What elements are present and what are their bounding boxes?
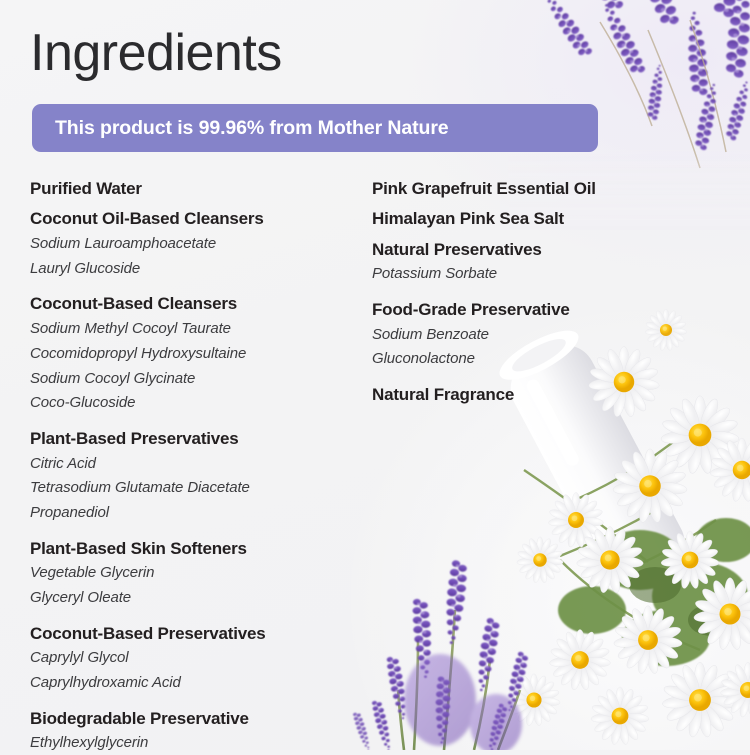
ingredient-item: Vegetable Glycerin [30, 562, 350, 585]
ingredient-group: Coconut Oil-Based CleansersSodium Lauroa… [30, 208, 350, 280]
ingredient-group: Food-Grade PreservativeSodium BenzoateGl… [372, 299, 702, 371]
ingredient-item: Citric Acid [30, 453, 350, 476]
ingredient-item: Caprylhydroxamic Acid [30, 672, 350, 695]
ingredient-item: Propanediol [30, 502, 350, 525]
ingredient-group: Natural Fragrance [372, 384, 702, 406]
ingredient-group-heading: Coconut-Based Preservatives [30, 623, 350, 645]
ingredient-item: Tetrasodium Glutamate Diacetate [30, 477, 350, 500]
ingredient-group-heading: Food-Grade Preservative [372, 299, 702, 321]
ingredient-item: Caprylyl Glycol [30, 647, 350, 670]
ingredient-item: Sodium Lauroamphoacetate [30, 233, 350, 256]
ingredient-group: Plant-Based Skin SoftenersVegetable Glyc… [30, 538, 350, 610]
ingredient-group: Purified Water [30, 178, 350, 200]
ingredient-group: Plant-Based PreservativesCitric AcidTetr… [30, 428, 350, 525]
ingredient-item: Sodium Methyl Cocoyl Taurate [30, 318, 350, 341]
ingredient-group-heading: Natural Preservatives [372, 239, 702, 261]
ingredient-item: Lauryl Glucoside [30, 258, 350, 281]
ingredient-group-heading: Biodegradable Preservative [30, 708, 350, 730]
ingredient-item: Gluconolactone [372, 348, 702, 371]
ingredient-group: Coconut-Based PreservativesCaprylyl Glyc… [30, 623, 350, 695]
ingredient-item: Potassium Sorbate [372, 263, 702, 286]
ingredient-group-heading: Pink Grapefruit Essential Oil [372, 178, 702, 200]
ingredient-group: Pink Grapefruit Essential Oil [372, 178, 702, 200]
ingredient-group: Biodegradable PreservativeEthylhexylglyc… [30, 708, 350, 755]
ingredient-item: Sodium Benzoate [372, 324, 702, 347]
page-title: Ingredients [30, 27, 282, 79]
ingredients-column-right: Pink Grapefruit Essential OilHimalayan P… [372, 178, 702, 415]
ingredients-column-left: Purified WaterCoconut Oil-Based Cleanser… [30, 178, 350, 755]
ingredient-group: Natural PreservativesPotassium Sorbate [372, 239, 702, 286]
ingredient-item: Glyceryl Oleate [30, 587, 350, 610]
ingredient-group-heading: Coconut-Based Cleansers [30, 293, 350, 315]
ingredient-group-heading: Purified Water [30, 178, 350, 200]
natural-percentage-badge: This product is 99.96% from Mother Natur… [32, 104, 598, 152]
ingredient-group-heading: Himalayan Pink Sea Salt [372, 208, 702, 230]
ingredient-group-heading: Plant-Based Skin Softeners [30, 538, 350, 560]
ingredient-item: Ethylhexylglycerin [30, 732, 350, 755]
ingredient-item: Cocomidopropyl Hydroxysultaine [30, 343, 350, 366]
ingredient-group: Coconut-Based CleansersSodium Methyl Coc… [30, 293, 350, 415]
ingredient-group-heading: Plant-Based Preservatives [30, 428, 350, 450]
ingredients-page: Ingredients This product is 99.96% from … [0, 0, 750, 750]
ingredient-item: Sodium Cocoyl Glycinate [30, 368, 350, 391]
ingredient-group-heading: Natural Fragrance [372, 384, 702, 406]
badge-label: This product is 99.96% from Mother Natur… [32, 117, 449, 140]
ingredient-group-heading: Coconut Oil-Based Cleansers [30, 208, 350, 230]
ingredient-item: Coco-Glucoside [30, 392, 350, 415]
ingredient-group: Himalayan Pink Sea Salt [372, 208, 702, 230]
